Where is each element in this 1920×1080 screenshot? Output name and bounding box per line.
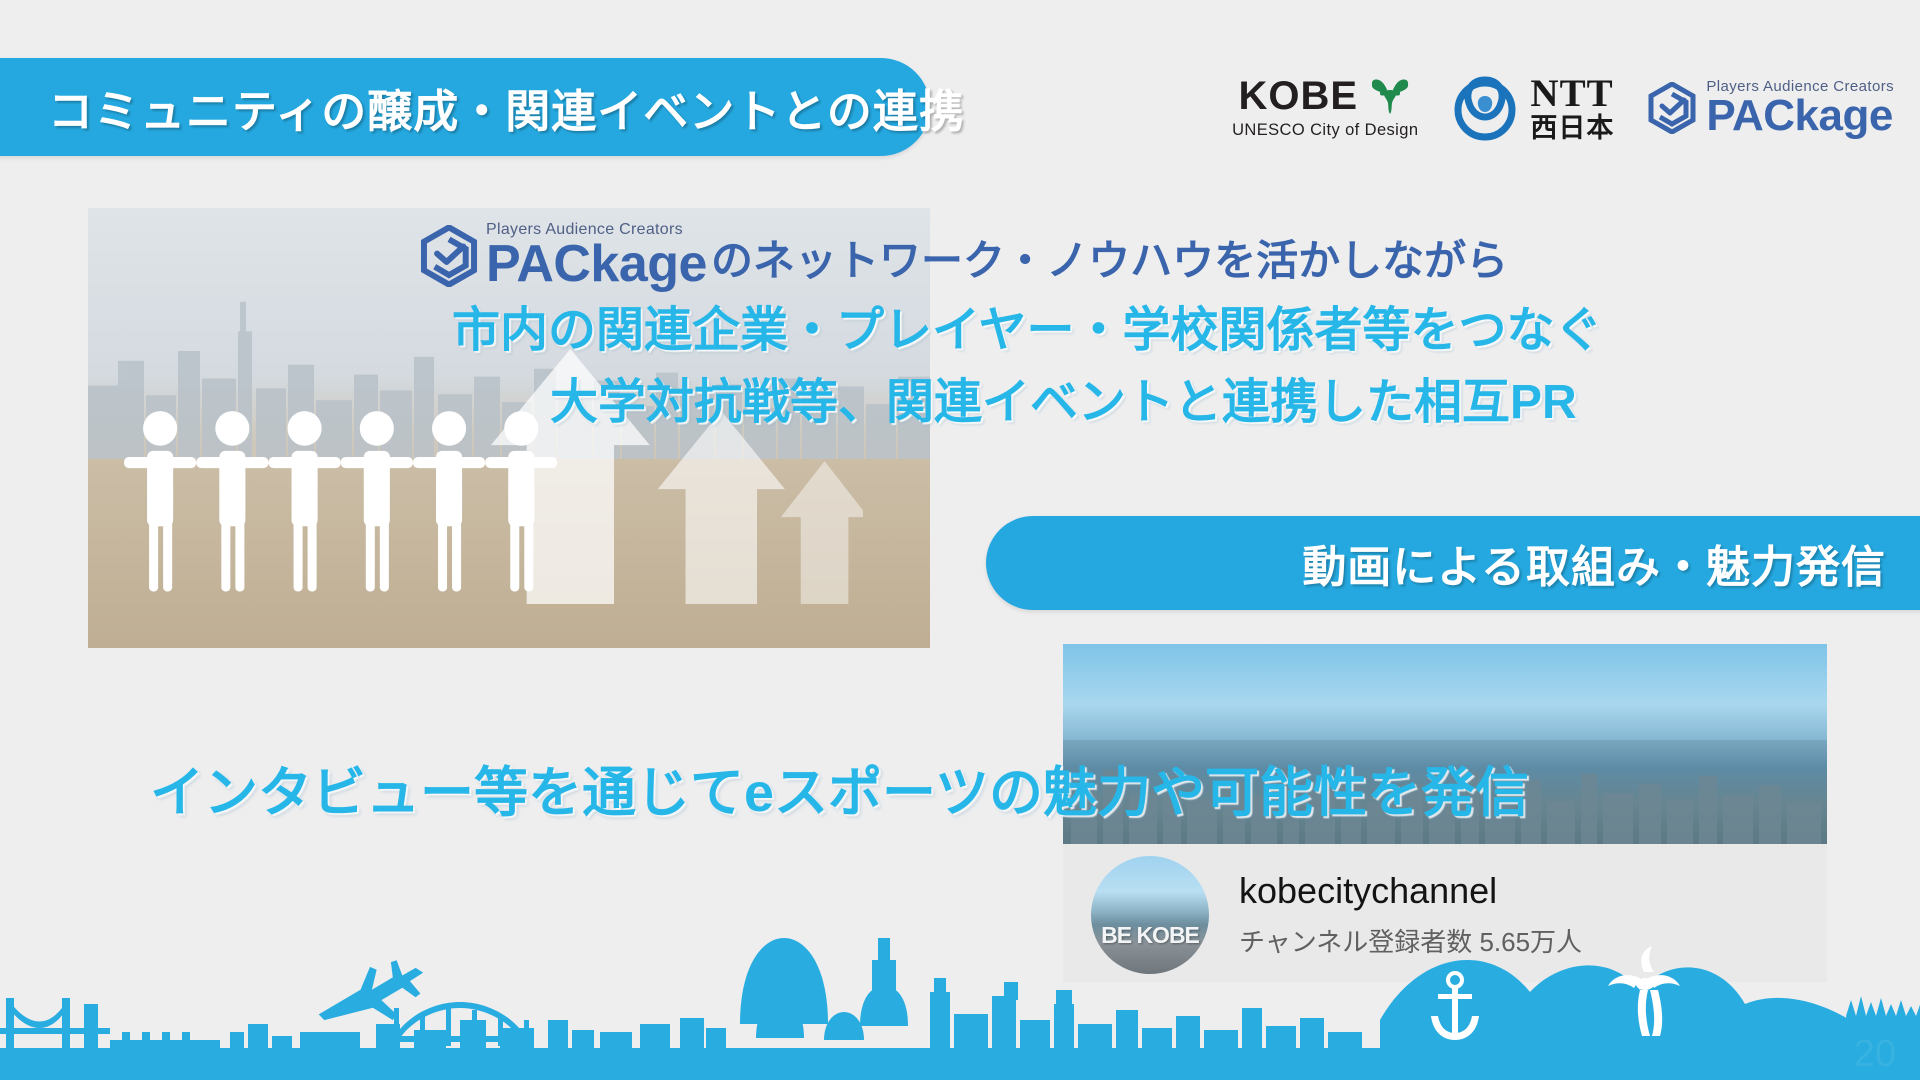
kobe-logo-word: KOBE	[1238, 76, 1358, 116]
youtube-channel-name[interactable]: kobecitychannel	[1239, 868, 1582, 913]
bridge-icon	[0, 998, 220, 1048]
slide-root: コミュニティの醸成・関連イベントとの連携 KOBE UNESCO City of…	[0, 0, 1920, 1080]
footer-skyline	[0, 920, 1920, 1080]
ntt-logo-word: NTT	[1530, 74, 1614, 113]
package-hex-icon	[1648, 82, 1696, 134]
inline-package-word: PACkage	[486, 238, 707, 290]
ntt-logo-region: 西日本	[1530, 115, 1614, 142]
video-banner-text: 動画による取組み・魅力発信	[1302, 531, 1886, 595]
slide-title-banner: コミュニティの醸成・関連イベントとの連携	[0, 58, 930, 156]
kobe-leaf-icon	[1368, 77, 1412, 115]
ntt-loop-icon	[1452, 75, 1518, 141]
kobe-logo: KOBE UNESCO City of Design	[1232, 76, 1418, 140]
copy-line-2: 市内の関連企業・プレイヤー・学校関係者等をつなぐ	[452, 290, 1603, 360]
bottom-headline: インタビュー等を通じてeスポーツの魅力や可能性を発信	[150, 748, 1529, 827]
copy-line-3: 大学対抗戦等、関連イベントと連携した相互PR	[550, 362, 1577, 432]
ntt-logo: NTT 西日本	[1452, 74, 1614, 142]
copy-line-1: Players Audience Creators PACkage のネットワー…	[420, 222, 1508, 290]
video-banner: 動画による取組み・魅力発信	[986, 516, 1920, 610]
package-logo-word: PACkage	[1706, 95, 1894, 137]
page-number: 20	[1854, 1033, 1896, 1076]
package-logo: Players Audience Creators PACkage	[1648, 79, 1894, 137]
copy-line-1-rest: のネットワーク・ノウハウを活かしながら	[711, 227, 1508, 288]
inline-package-logo: Players Audience Creators PACkage	[420, 222, 707, 290]
people-holding-hands-icon	[122, 406, 594, 600]
header-logo-row: KOBE UNESCO City of Design NTT 西日本	[1232, 60, 1894, 156]
airplane-icon	[319, 960, 424, 1020]
package-hex-icon	[420, 225, 478, 287]
kobe-logo-subtitle: UNESCO City of Design	[1232, 121, 1418, 140]
page-title: コミュニティの醸成・関連イベントとの連携	[48, 75, 965, 140]
